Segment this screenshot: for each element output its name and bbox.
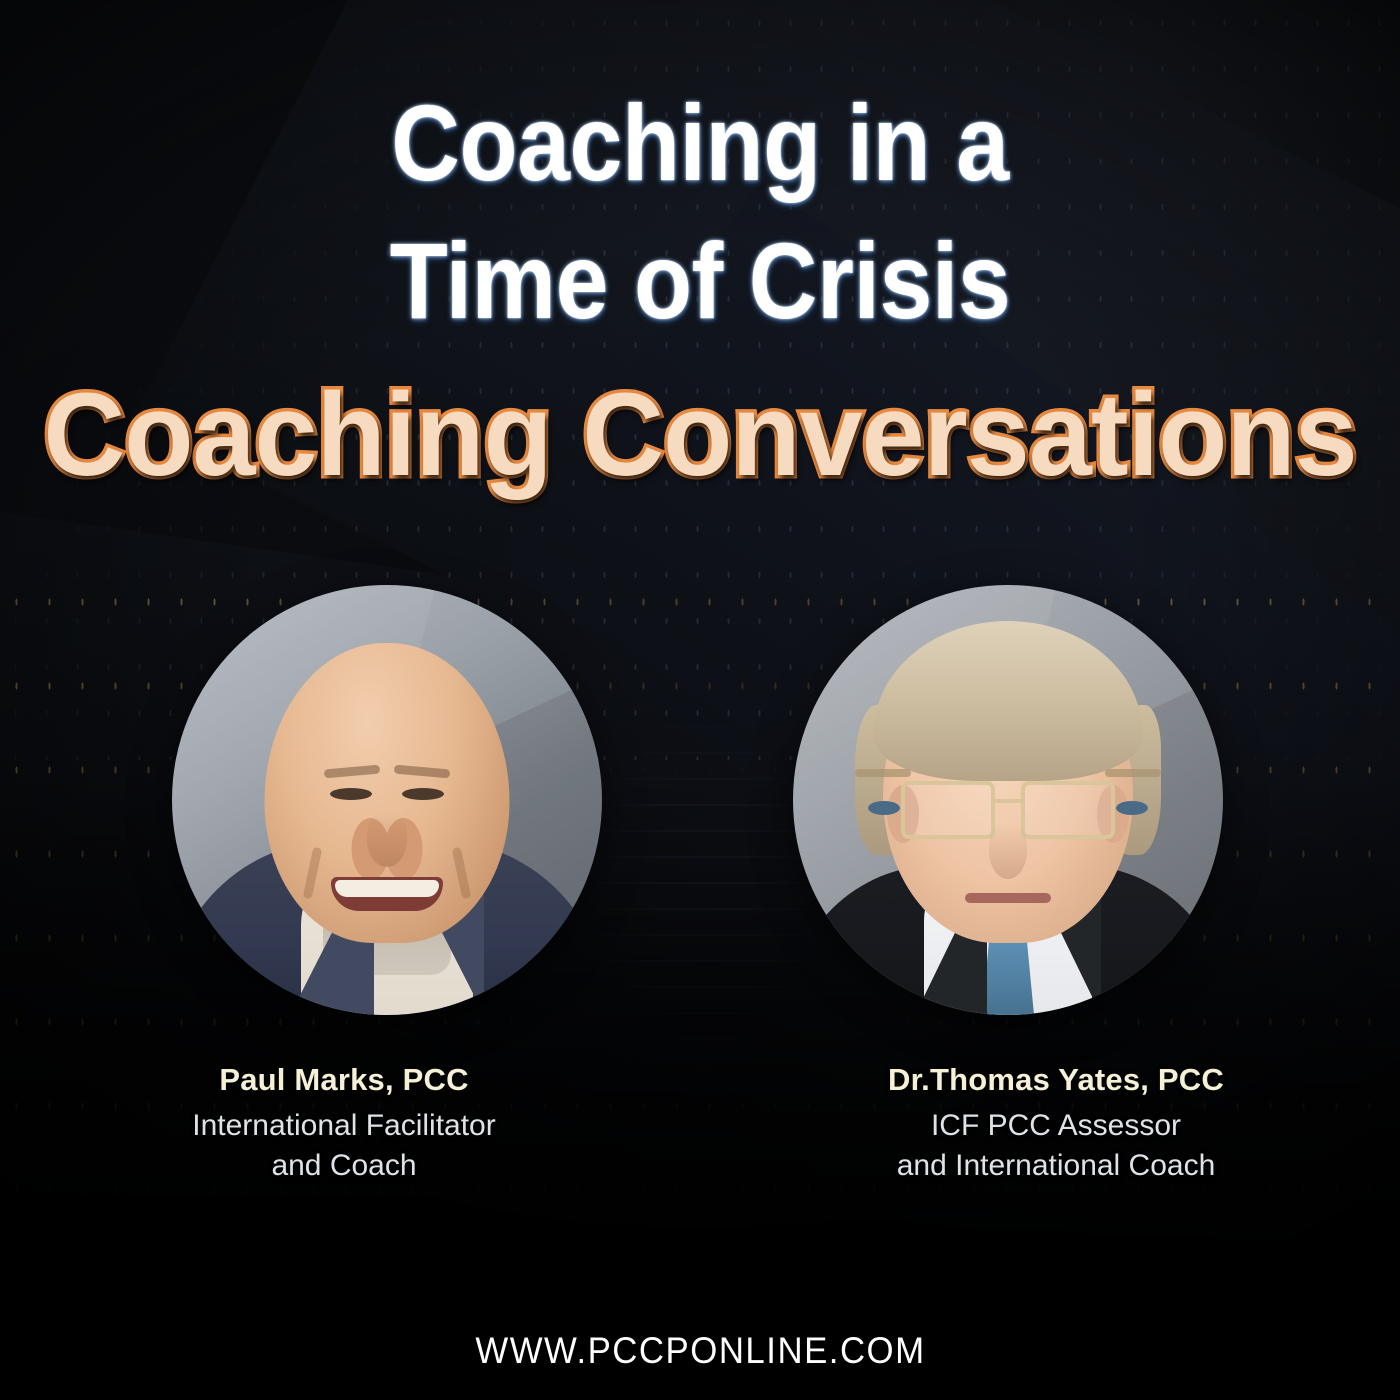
footer: WWW.PCCPONLINE.COM	[0, 1330, 1400, 1372]
portrait-brow-left	[855, 769, 911, 777]
portrait-eye-left	[868, 801, 900, 815]
speaker-captions: Paul Marks, PCC International Facilitato…	[0, 1062, 1400, 1186]
speaker-caption-left: Paul Marks, PCC International Facilitato…	[0, 1062, 700, 1186]
portrait-eye-right	[402, 788, 444, 800]
title-line-2: Time of Crisis	[84, 212, 1316, 350]
portrait-brow-right	[1105, 769, 1161, 777]
portrait-nose	[989, 823, 1027, 879]
glasses-lens-left	[901, 781, 995, 839]
speaker-role-line-2: and International Coach	[712, 1146, 1400, 1186]
speaker-name: Paul Marks, PCC	[0, 1062, 688, 1098]
headline: Coaching Conversations	[0, 372, 1400, 499]
title-line-1: Coaching in a	[84, 74, 1316, 212]
glasses-bridge	[995, 799, 1021, 803]
speaker-caption-right: Dr.Thomas Yates, PCC ICF PCC Assessor an…	[700, 1062, 1400, 1186]
portrait-mouth	[965, 893, 1051, 903]
speaker-photo-left	[172, 585, 602, 1015]
portrait-nose	[367, 813, 407, 867]
portrait-teeth	[335, 880, 439, 897]
website-url[interactable]: WWW.PCCPONLINE.COM	[475, 1330, 925, 1372]
headline-text: Coaching Conversations	[43, 372, 1356, 499]
portrait-eye-right	[1116, 801, 1148, 815]
speaker-role-line-1: International Facilitator	[0, 1106, 688, 1146]
page-title: Coaching in a Time of Crisis	[0, 74, 1400, 350]
glasses-lens-right	[1021, 781, 1115, 839]
portrait-eye-left	[330, 788, 372, 800]
speaker-name: Dr.Thomas Yates, PCC	[712, 1062, 1400, 1098]
portrait-mouth	[331, 877, 443, 911]
promo-poster: Coaching in a Time of Crisis Coaching Co…	[0, 0, 1400, 1400]
speaker-photo-right	[793, 585, 1223, 1015]
speaker-role-line-1: ICF PCC Assessor	[712, 1106, 1400, 1146]
speaker-role-line-2: and Coach	[0, 1146, 688, 1186]
